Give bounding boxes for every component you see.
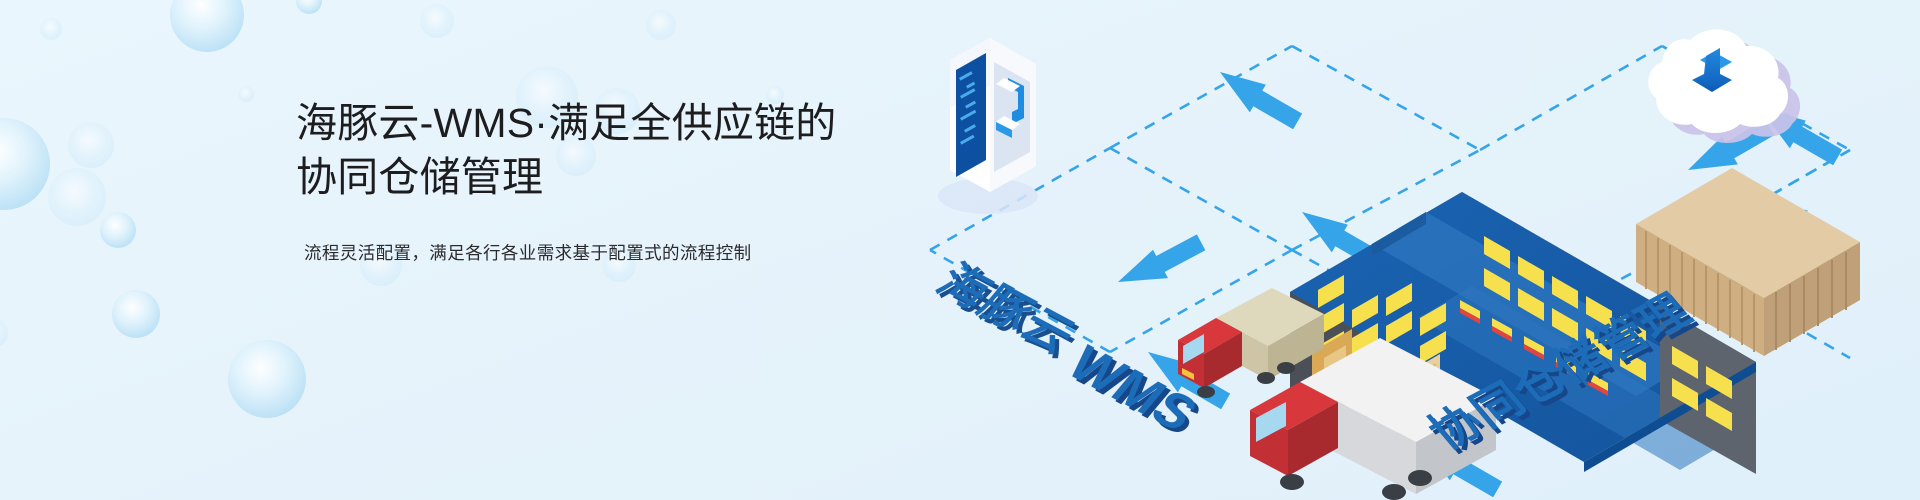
- decorative-bubble: [112, 290, 160, 338]
- decorative-bubble: [100, 212, 136, 248]
- page-title: 海豚云-WMS·满足全供应链的 协同仓储管理: [296, 96, 936, 204]
- decorative-bubble: [296, 0, 322, 14]
- hero-subtitle: 流程灵活配置，满足各行各业需求基于配置式的流程控制: [304, 240, 936, 266]
- hero-text-block: 海豚云-WMS·满足全供应链的 协同仓储管理 流程灵活配置，满足各行各业需求基于…: [296, 96, 936, 266]
- decorative-bubble: [646, 10, 676, 40]
- decorative-bubble: [0, 118, 50, 210]
- decorative-bubble: [420, 4, 454, 38]
- warehouse-illustration: 海豚云 海豚云 WMS WMS 协同仓储管理: [920, 0, 1920, 500]
- server-rack-icon: [938, 38, 1038, 214]
- decorative-bubble: [40, 18, 62, 40]
- decorative-bubble: [228, 340, 306, 418]
- decorative-bubble: [0, 318, 8, 348]
- decorative-bubble: [48, 168, 106, 226]
- decorative-bubble: [170, 0, 244, 52]
- illustration-brand-text-left: 海豚云 海豚云: [928, 255, 1090, 365]
- decorative-bubble: [238, 86, 254, 102]
- decorative-bubble: [68, 122, 114, 168]
- hero-banner: 海豚云-WMS·满足全供应链的 协同仓储管理 流程灵活配置，满足各行各业需求基于…: [0, 0, 1920, 500]
- cloud-upload-icon: [1648, 29, 1800, 143]
